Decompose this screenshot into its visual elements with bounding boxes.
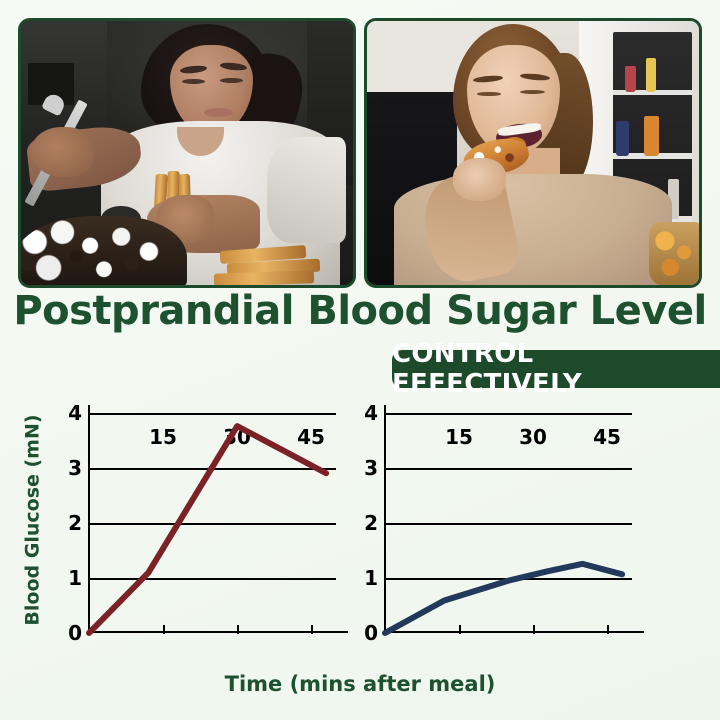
y-tick-label-3-left: 3 bbox=[68, 456, 82, 480]
charts-region: Blood Glucose (mN) 4 3 2 1 0 15 30 45 bbox=[0, 392, 720, 652]
y-tick-label-1-right: 1 bbox=[364, 566, 378, 590]
photo-image-woman-eating-donut bbox=[367, 21, 699, 285]
y-tick-label-2-right: 2 bbox=[364, 511, 378, 535]
y-axis-title-text: Blood Glucose (mN) bbox=[22, 414, 44, 625]
plot-area-right: 4 3 2 1 0 15 30 45 bbox=[385, 413, 632, 633]
chart-controlled-blood-glucose: 4 3 2 1 0 15 30 45 bbox=[360, 392, 720, 652]
photo-card-woman-eating-dessert bbox=[18, 18, 356, 288]
y-tick-label-4-right: 4 bbox=[364, 401, 378, 425]
series-line-uncontrolled bbox=[89, 413, 336, 633]
y-tick-label-4-left: 4 bbox=[68, 401, 82, 425]
y-tick-label-0-right: 0 bbox=[364, 621, 378, 645]
plot-area-left: 4 3 2 1 0 15 30 45 bbox=[89, 413, 336, 633]
y-tick-label-1-left: 1 bbox=[68, 566, 82, 590]
photo-row bbox=[0, 0, 720, 288]
y-tick-label-2-left: 2 bbox=[68, 511, 82, 535]
y-tick-label-0-left: 0 bbox=[68, 621, 82, 645]
y-axis-title: Blood Glucose (mN) bbox=[18, 400, 48, 640]
photo-card-woman-eating-donut bbox=[364, 18, 702, 288]
x-axis-title: Time (mins after meal) bbox=[0, 672, 720, 696]
y-tick-label-3-right: 3 bbox=[364, 456, 378, 480]
series-line-controlled bbox=[385, 413, 632, 633]
chart-uncontrolled-blood-glucose: Blood Glucose (mN) 4 3 2 1 0 15 30 45 bbox=[0, 392, 360, 652]
infographic-root: Postprandial Blood Sugar Level CONTROL E… bbox=[0, 0, 720, 720]
photo-image-woman-eating-dessert bbox=[21, 21, 353, 285]
status-badge: CONTROL EFFECTIVELY bbox=[392, 350, 720, 388]
page-title: Postprandial Blood Sugar Level bbox=[0, 288, 720, 334]
